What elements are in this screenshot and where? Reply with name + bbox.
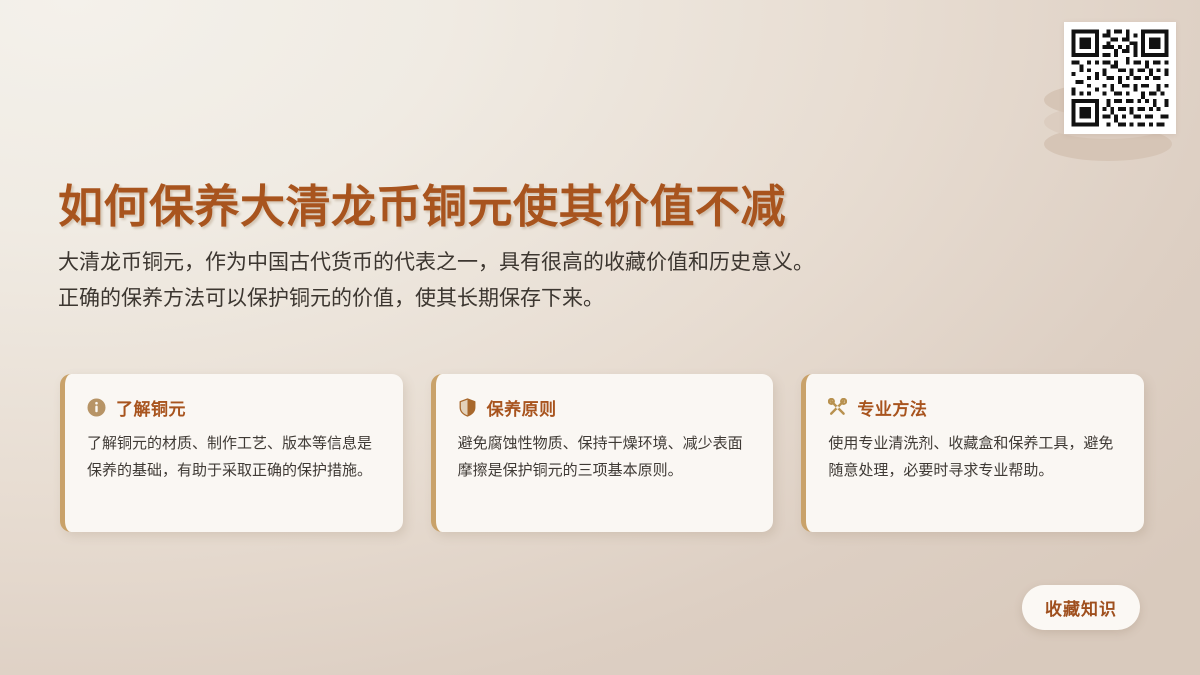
subtitle: 大清龙币铜元，作为中国古代货币的代表之一，具有很高的收藏价值和历史意义。 正确的…	[58, 244, 958, 316]
card-body: 使用专业清洗剂、收藏盒和保养工具，避免随意处理，必要时寻求专业帮助。	[828, 431, 1122, 485]
card-title: 保养原则	[487, 395, 557, 420]
page-title: 如何保养大清龙币铜元使其价值不减	[58, 178, 786, 236]
card-header: 保养原则	[458, 395, 752, 420]
card-professional-methods[interactable]: 专业方法 使用专业清洗剂、收藏盒和保养工具，避免随意处理，必要时寻求专业帮助。	[801, 374, 1144, 532]
slide-root: 如何保养大清龙币铜元使其价值不减 大清龙币铜元，作为中国古代货币的代表之一，具有…	[0, 0, 1200, 675]
crossed-tools-icon	[828, 398, 847, 417]
card-understand-coin[interactable]: 了解铜元 了解铜元的材质、制作工艺、版本等信息是保养的基础，有助于采取正确的保护…	[60, 374, 403, 532]
info-circle-icon	[87, 398, 106, 417]
card-maintenance-principles[interactable]: 保养原则 避免腐蚀性物质、保持干燥环境、减少表面摩擦是保护铜元的三项基本原则。	[431, 374, 774, 532]
card-row: 了解铜元 了解铜元的材质、制作工艺、版本等信息是保养的基础，有助于采取正确的保护…	[60, 374, 1144, 532]
card-header: 专业方法	[828, 395, 1122, 420]
subtitle-line-1: 大清龙币铜元，作为中国古代货币的代表之一，具有很高的收藏价值和历史意义。	[58, 244, 958, 280]
card-body: 避免腐蚀性物质、保持干燥环境、减少表面摩擦是保护铜元的三项基本原则。	[458, 431, 752, 485]
card-body: 了解铜元的材质、制作工艺、版本等信息是保养的基础，有助于采取正确的保护措施。	[87, 431, 381, 485]
subtitle-line-2: 正确的保养方法可以保护铜元的价值，使其长期保存下来。	[58, 280, 958, 316]
card-title: 专业方法	[857, 395, 927, 420]
qr-code[interactable]	[1064, 22, 1176, 134]
card-title: 了解铜元	[116, 395, 186, 420]
collect-knowledge-button[interactable]: 收藏知识	[1022, 585, 1140, 630]
shield-icon	[458, 398, 477, 417]
card-header: 了解铜元	[87, 395, 381, 420]
